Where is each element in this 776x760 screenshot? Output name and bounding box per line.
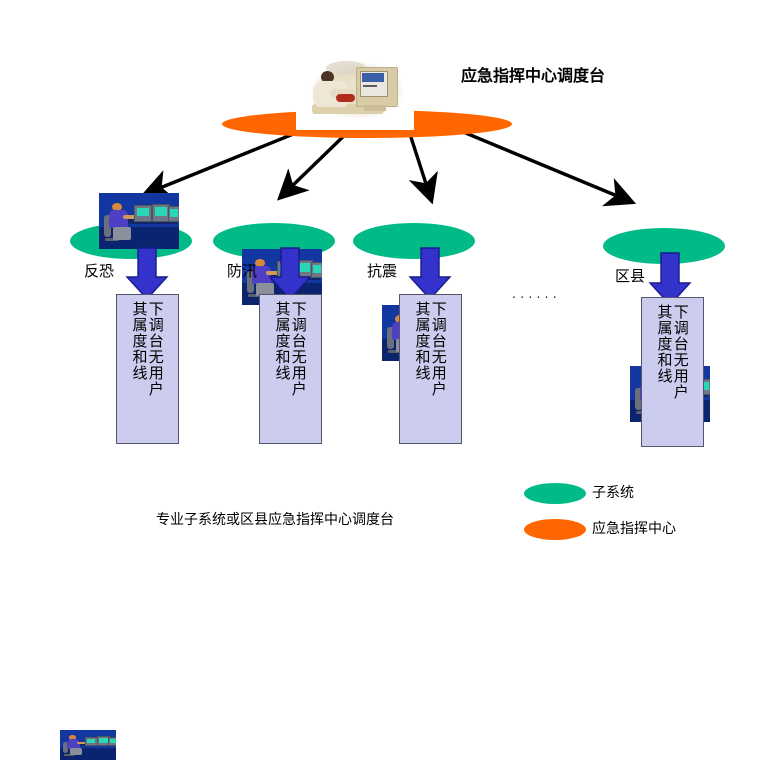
subsystem-label-node-2: 防汛 <box>227 264 257 279</box>
subordinate-box-column-right-node-2: 下调台无用户 <box>291 301 307 397</box>
subsystem-label-node-3: 抗震 <box>367 264 397 279</box>
legend-operator-console-icon <box>60 730 116 760</box>
diagram-canvas: 应急指挥中心调度台 反恐 防汛 <box>0 0 776 582</box>
legend-console-caption: 专业子系统或区县应急指挥中心调度台 <box>156 513 394 527</box>
operator-console-photo-node-1 <box>99 193 179 249</box>
subsystem-label-node-4: 区县 <box>615 269 645 284</box>
subordinate-box-column-right-node-1: 下调台无用户 <box>148 301 164 397</box>
person-at-desktop-computer-photo <box>296 47 414 130</box>
subordinate-box-node-2[interactable]: 下调台无用户 其属度和线 <box>259 294 322 444</box>
legend-label-command-center: 应急指挥中心 <box>592 522 676 536</box>
connector-root-to-node-4 <box>444 124 622 198</box>
subordinate-box-column-left-node-3: 其属度和线 <box>414 301 430 381</box>
subordinate-box-column-left-node-2: 其属度和线 <box>274 301 290 381</box>
ellipsis-more-nodes: ...... <box>512 288 561 301</box>
subordinate-box-column-left-node-1: 其属度和线 <box>131 301 147 381</box>
subordinate-box-column-right-node-3: 下调台无用户 <box>431 301 447 397</box>
legend-swatch-subsystem <box>524 483 586 504</box>
subsystem-label-node-1: 反恐 <box>84 264 114 279</box>
subordinate-box-node-4[interactable]: 下调台无用户 其属度和线 <box>641 297 704 447</box>
subsystem-ellipse-node-4[interactable] <box>603 228 725 264</box>
root-command-center-title: 应急指挥中心调度台 <box>461 68 605 84</box>
subordinate-box-node-1[interactable]: 下调台无用户 其属度和线 <box>116 294 179 444</box>
legend-label-subsystem: 子系统 <box>592 486 634 500</box>
legend-swatch-command-center <box>524 519 586 540</box>
subordinate-box-column-right-node-4: 下调台无用户 <box>673 304 689 400</box>
subordinate-box-column-left-node-4: 其属度和线 <box>656 304 672 384</box>
subsystem-ellipse-node-3[interactable] <box>353 223 475 259</box>
subordinate-box-node-3[interactable]: 下调台无用户 其属度和线 <box>399 294 462 444</box>
